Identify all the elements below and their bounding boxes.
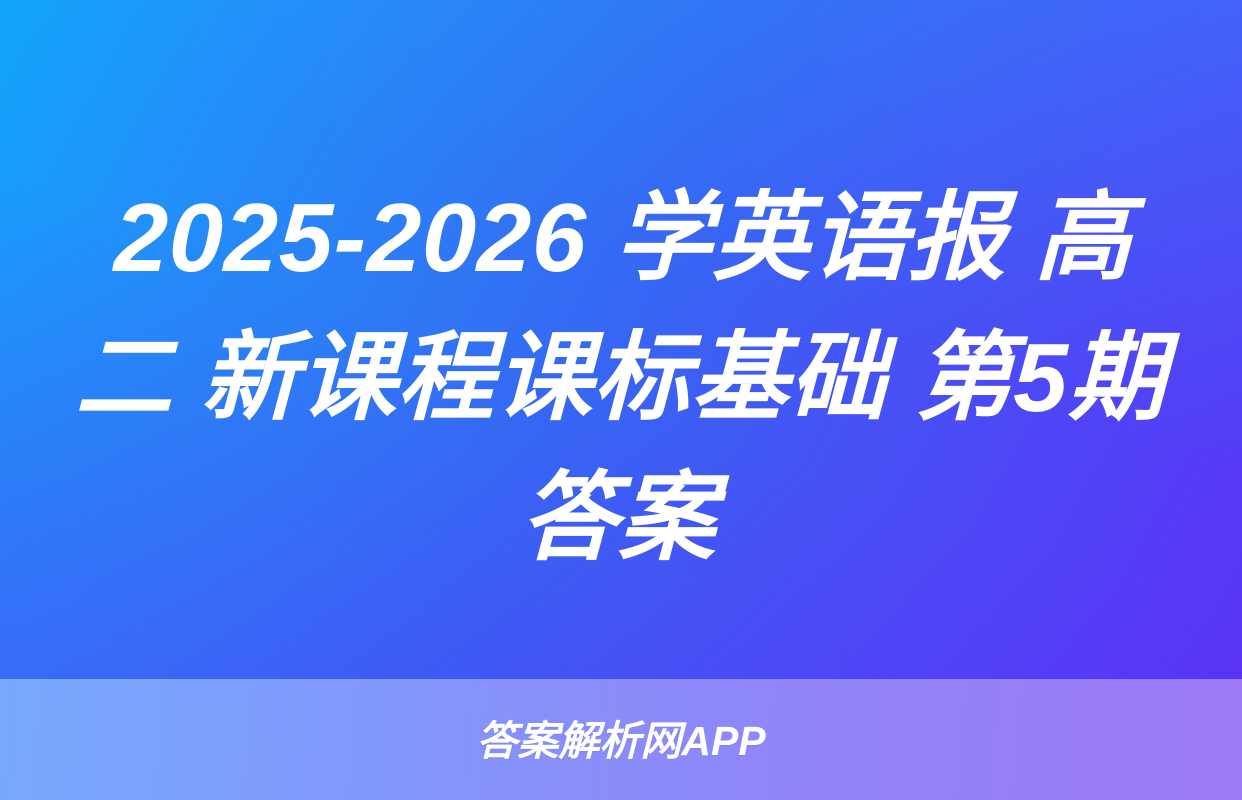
app-watermark: 答案解析网APP: [476, 721, 765, 762]
gradient-background: [0, 0, 1242, 679]
watermark-area: 答案解析网APP: [0, 679, 1242, 800]
answer-card-banner: 2025-2026 学英语报 高二 新课程课标基础 第5期答案 答案解析网APP: [0, 0, 1242, 800]
